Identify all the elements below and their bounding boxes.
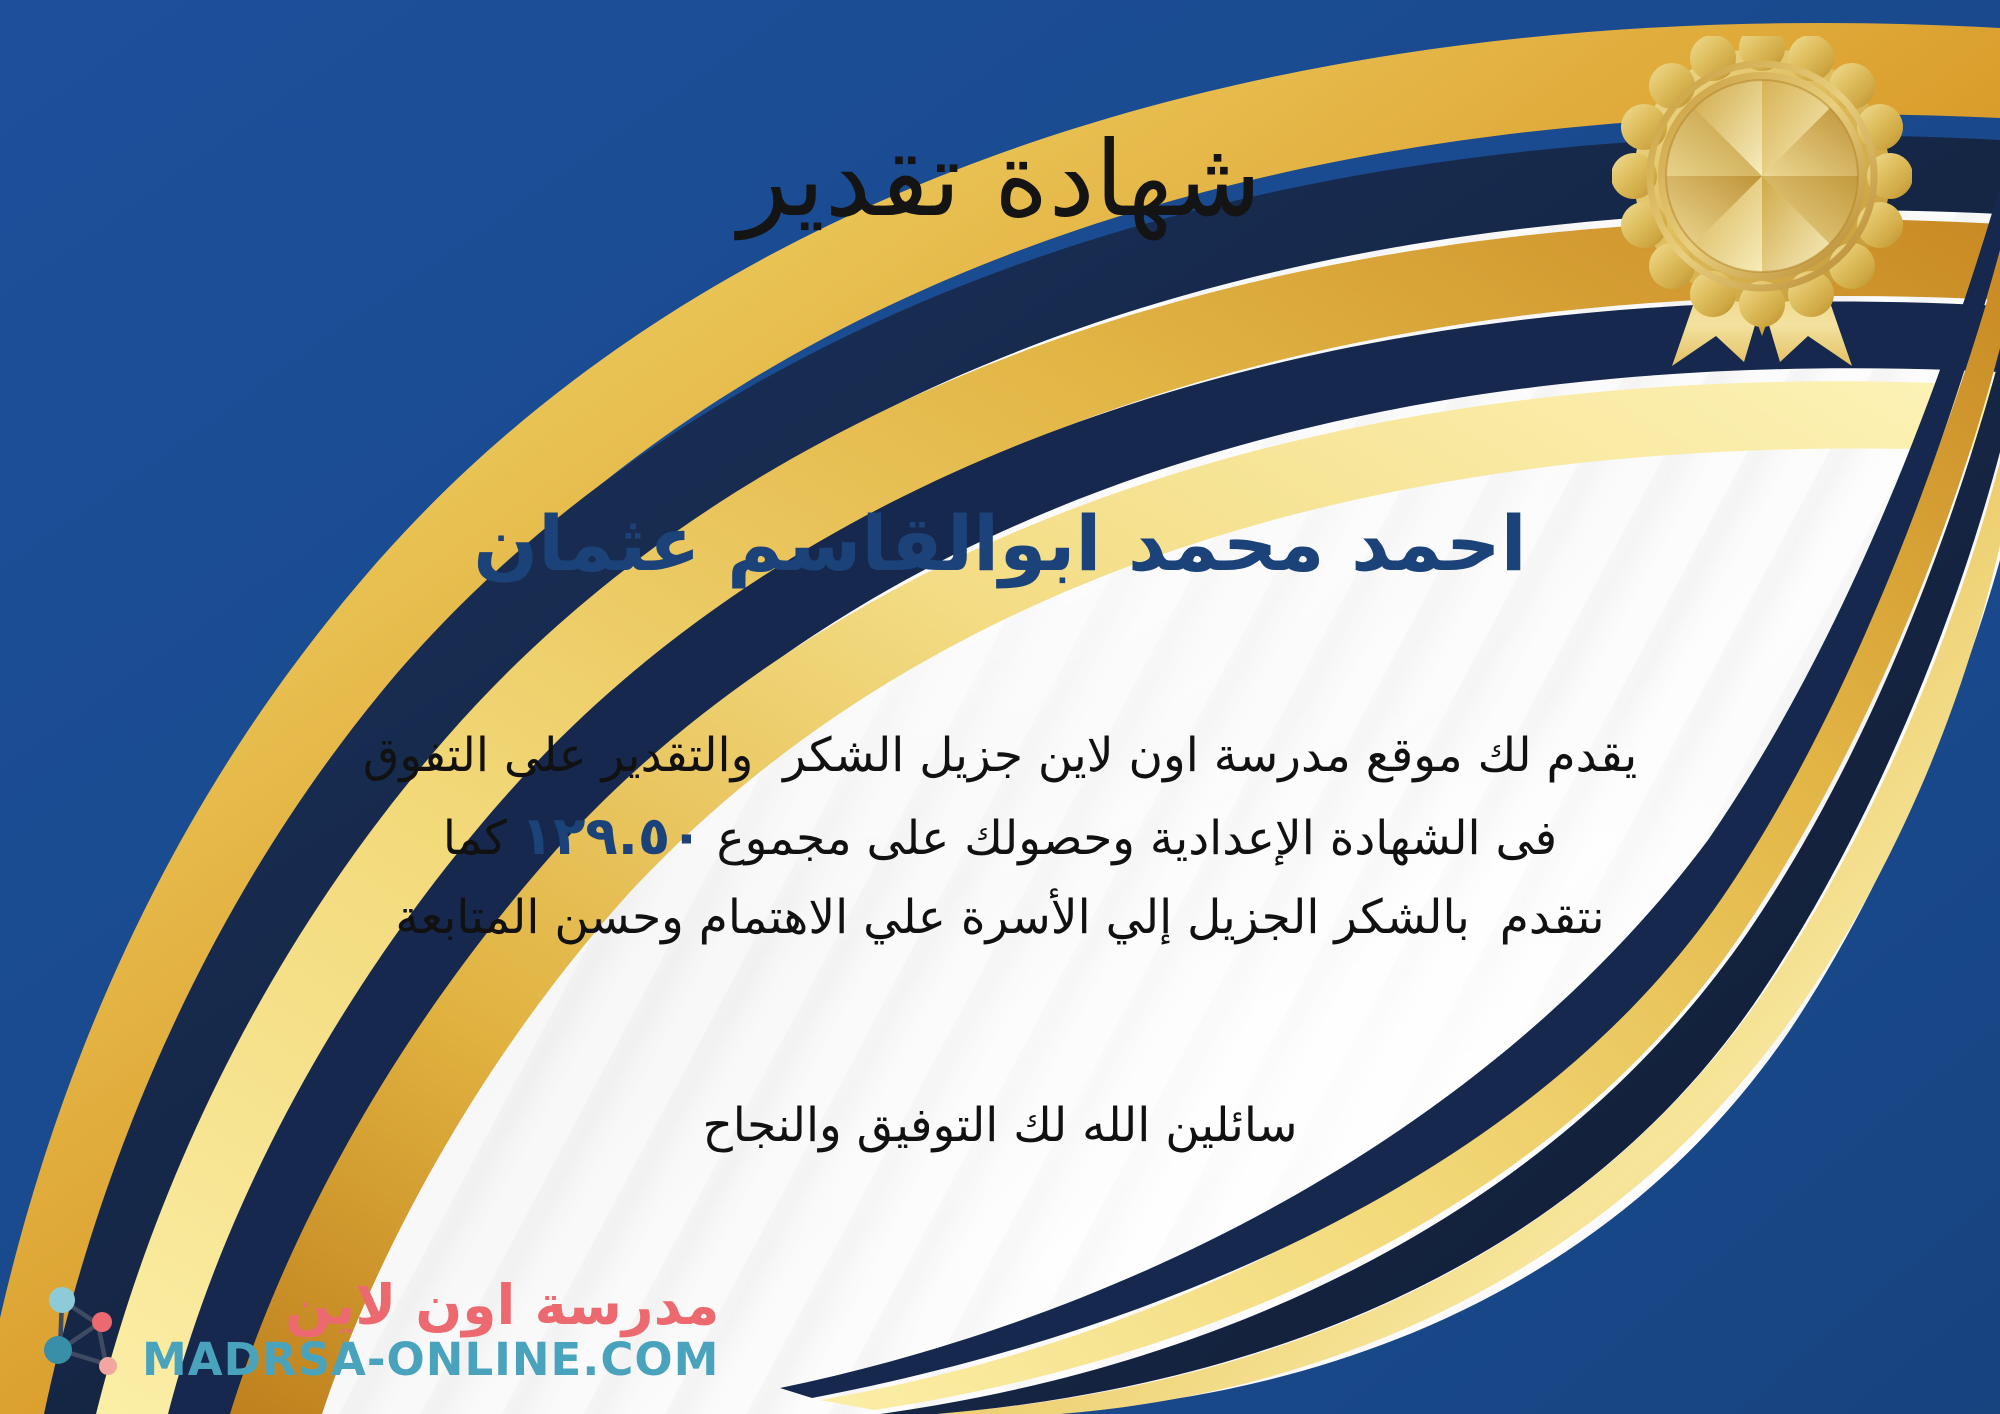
body-text: يقدم لك موقع مدرسة اون لاين جزيل الشكر و… (40, 718, 1960, 956)
network-nodes-icon (36, 1278, 132, 1382)
certificate-canvas: شهادة تقدير احمد محمد ابوالقاسم عثمان يق… (0, 0, 2000, 1414)
brand-name-url: MADRSA-ONLINE.COM (142, 1335, 719, 1385)
page-title: شهادة تقدير (0, 120, 2000, 240)
certificate-content: شهادة تقدير احمد محمد ابوالقاسم عثمان يق… (0, 0, 2000, 1414)
brand-logo[interactable]: مدرسة اون لاين MADRSA-ONLINE.COM (36, 1277, 719, 1384)
body-line-1: يقدم لك موقع مدرسة اون لاين جزيل الشكر و… (40, 718, 1960, 794)
brand-text-group: مدرسة اون لاين MADRSA-ONLINE.COM (142, 1277, 719, 1384)
body-line-3: نتقدم بالشكر الجزيل إلي الأسرة علي الاهت… (40, 880, 1960, 956)
recipient-name: احمد محمد ابوالقاسم عثمان (0, 498, 2000, 589)
closing-wish: سائلين الله لك التوفيق والنجاح (0, 1098, 2000, 1153)
body-line-2-suffix: كما (443, 811, 507, 866)
total-score-value: ١٢٩.٥٠ (507, 806, 717, 867)
body-line-2-prefix: فى الشهادة الإعدادية وحصولك على مجموع (717, 811, 1558, 866)
body-line-2: فى الشهادة الإعدادية وحصولك على مجموع١٢٩… (40, 794, 1960, 880)
brand-name-arabic: مدرسة اون لاين (285, 1277, 719, 1335)
